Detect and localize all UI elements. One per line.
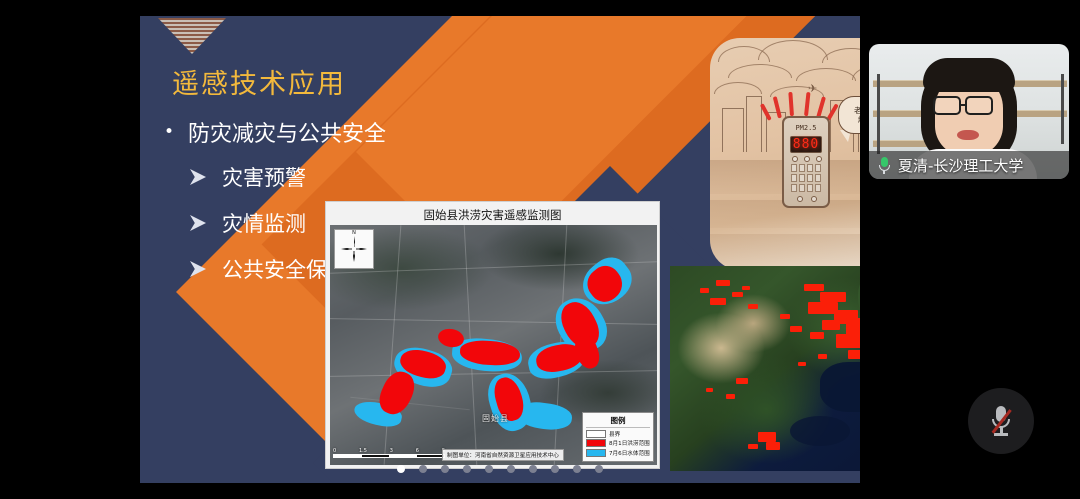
legend-swatch-boundary <box>586 430 606 438</box>
pm25-cartoon-illustration: ✈ PM2.5 880 <box>710 38 860 270</box>
flood-monitoring-map-panel: 固始县洪涝灾害遥感监测图 <box>325 201 660 469</box>
arrow-bullet-icon <box>190 215 206 231</box>
legend-label-boundary: 县界 <box>609 430 620 438</box>
bullet-text-1: 防灾减灾与公共安全 <box>188 116 386 148</box>
legend-item: 8月1日洪涝范围 <box>586 439 650 447</box>
pagination-dot-9[interactable] <box>573 465 581 473</box>
speech-text-line-2: 爆表了 <box>858 115 860 124</box>
pm25-device-label: PM2.5 <box>784 124 828 132</box>
participant-glasses-bridge <box>961 104 967 106</box>
bullet-text-3: 灾情监测 <box>222 208 306 238</box>
scale-tick-0: 0 <box>333 448 336 454</box>
pagination-dot-5[interactable] <box>485 465 493 473</box>
map-scale-bar: 0 1.5 3 6 9 千米 <box>333 448 445 461</box>
meeting-screen-share-view: 遥感技术应用 • 防灾减灾与公共安全 灾害预警 灾情监测 公共安全保障 <box>0 0 1080 499</box>
scale-tick-3: 6 <box>416 448 419 454</box>
speech-text-line-1: 老乡，别 <box>854 106 860 115</box>
legend-label-flood: 8月1日洪涝范围 <box>609 439 650 447</box>
microphone-muted-icon <box>991 406 1011 436</box>
slide-title: 遥感技术应用 <box>172 62 346 101</box>
pagination-dot-7[interactable] <box>529 465 537 473</box>
bullet-dot-icon: • <box>164 124 174 141</box>
pm25-device-keypad <box>791 164 821 192</box>
participant-name-label: 夏清-长沙理工大学 <box>898 155 1023 176</box>
scale-tick-1: 1.5 <box>359 448 367 454</box>
compass-north-label: N <box>352 230 356 236</box>
bullet-item-2: 灾害预警 <box>190 162 306 192</box>
east-asia-satellite-hotspot-map: 山东汇报北斗 <box>670 266 860 471</box>
arrow-bullet-icon <box>190 261 206 277</box>
arrow-bullet-icon <box>190 169 206 185</box>
pagination-dot-2[interactable] <box>419 465 427 473</box>
pagination-dot-8[interactable] <box>551 465 559 473</box>
pagination-dot-4[interactable] <box>463 465 471 473</box>
legend-label-water: 7月6日水体范围 <box>609 449 650 457</box>
compass-rose-icon: N <box>334 229 374 269</box>
speech-bubble: 老乡，别 爆表了 <box>838 96 860 134</box>
legend-title: 图例 <box>586 415 650 428</box>
bullet-item-1: • 防灾减灾与公共安全 <box>164 116 386 148</box>
participant-mouth <box>957 130 979 140</box>
pagination-dot-10[interactable] <box>595 465 603 473</box>
flood-map-legend: 图例 县界 8月1日洪涝范围 7月6日水体范围 <box>582 412 654 463</box>
participant-glasses-left <box>933 96 961 115</box>
scale-tick-2: 3 <box>390 448 393 454</box>
legend-item: 7月6日水体范围 <box>586 449 650 457</box>
microphone-icon[interactable] <box>879 157 890 174</box>
bullet-text-2: 灾害预警 <box>222 162 306 192</box>
pagination-dot-3[interactable] <box>441 465 449 473</box>
pagination-dot-1[interactable] <box>397 465 405 473</box>
pm25-detector-device: PM2.5 880 <box>782 116 830 208</box>
airplane-sketch-icon: ✈ <box>808 84 834 94</box>
pm25-reading-display: 880 <box>790 136 822 153</box>
participant-glasses-right <box>965 96 993 115</box>
legend-swatch-flood <box>586 439 606 447</box>
flood-map-imagery: 固始县 N 图例 县界 8月1日洪涝范围 <box>330 225 657 465</box>
participant-name-bar: 夏清-长沙理工大学 <box>869 151 1069 179</box>
shared-slide: 遥感技术应用 • 防灾减灾与公共安全 灾害预警 灾情监测 公共安全保障 <box>140 16 860 483</box>
map-credit-text: 制图单位：河南省自然资源卫星应用技术中心 <box>442 449 564 461</box>
participant-fringe <box>923 58 1015 92</box>
county-name-label: 固始县 <box>482 413 509 424</box>
legend-swatch-water <box>586 449 606 457</box>
participant-video-tile[interactable]: 夏清-长沙理工大学 <box>869 44 1069 179</box>
mute-toggle-button[interactable] <box>968 388 1034 454</box>
striped-triangle-decoration <box>158 18 226 54</box>
slide-pagination-dots[interactable] <box>140 463 860 475</box>
pagination-dot-6[interactable] <box>507 465 515 473</box>
flood-map-title: 固始县洪涝灾害遥感监测图 <box>326 202 659 227</box>
legend-item: 县界 <box>586 430 650 438</box>
bullet-item-3: 灾情监测 <box>190 208 306 238</box>
